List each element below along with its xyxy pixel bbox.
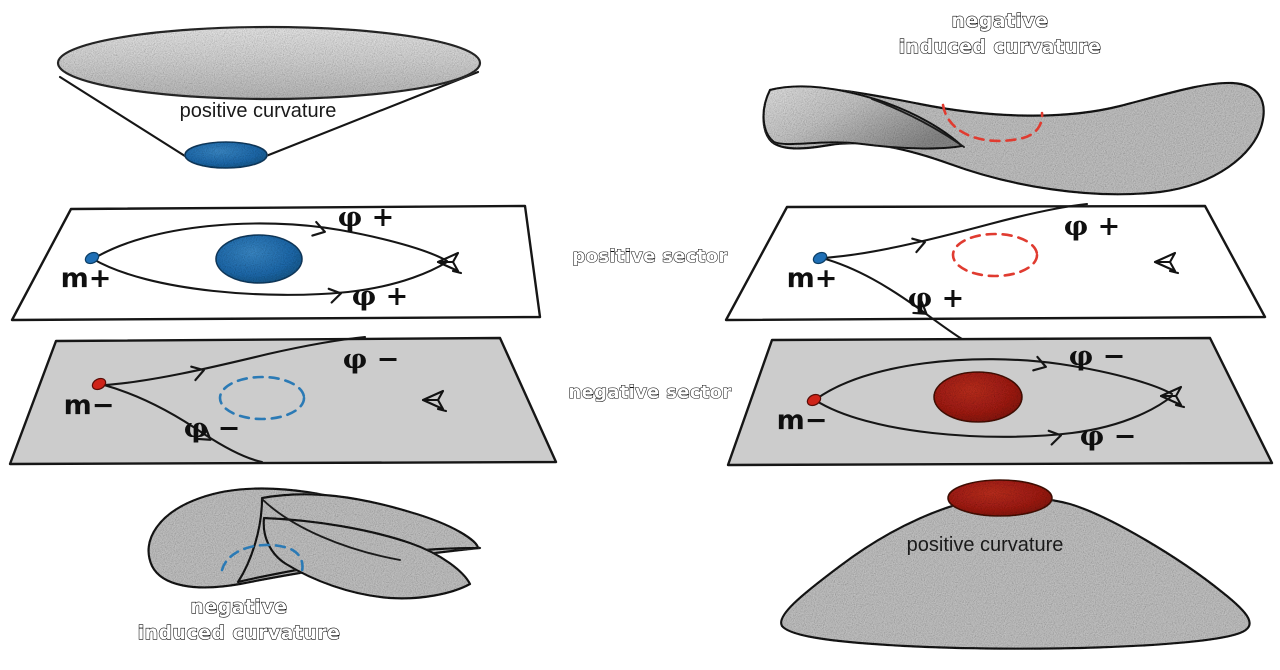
positive-mass-blob-left	[216, 235, 302, 283]
negative-mass-blob-apex	[948, 480, 1052, 516]
label-negative-sector: negative sector	[569, 382, 732, 403]
figure-canvas: positive curvature negative induced curv…	[0, 0, 1280, 670]
panel-top-left-positive-curvature: positive curvature	[58, 27, 480, 168]
path-label-upper-positive-right: φ +	[1064, 211, 1120, 242]
funnel-rim-ellipse	[58, 27, 480, 99]
sector-negative-left: m− φ − φ −	[10, 337, 556, 464]
source-label-positive-right: m+	[787, 263, 838, 294]
negative-mass-blob-right	[934, 372, 1022, 422]
panel-bottom-left-negative-induced-curvature: negative induced curvature	[138, 489, 480, 644]
source-label-negative-left: m−	[64, 390, 115, 421]
cone-hill-body	[781, 497, 1250, 649]
source-label-positive-left: m+	[61, 263, 112, 294]
sector-positive-left: m+ φ + φ +	[12, 202, 540, 320]
path-label-lower-negative-right: φ −	[1080, 421, 1136, 452]
caption-positive-curvature-top-left: positive curvature	[180, 100, 337, 122]
path-label-lower-negative-left: φ −	[184, 413, 240, 444]
sector-positive-right: m+ φ + φ +	[726, 204, 1265, 339]
path-label-lower-positive-left: φ +	[352, 281, 408, 312]
path-label-upper-negative-left: φ −	[343, 344, 399, 375]
caption-positive-curvature-bottom-right: positive curvature	[907, 534, 1064, 556]
panel-top-right-negative-induced-curvature: negative induced curvature	[763, 10, 1263, 194]
path-label-lower-positive-right: φ +	[908, 283, 964, 314]
caption-bottom-left-line1: negative	[191, 596, 288, 618]
label-positive-sector: positive sector	[572, 246, 727, 267]
path-label-upper-negative-right: φ −	[1069, 341, 1125, 372]
sector-negative-right: m− φ − φ −	[728, 338, 1272, 465]
positive-mass-blob	[185, 142, 267, 168]
source-label-negative-right: m−	[777, 405, 828, 436]
panel-bottom-right-positive-curvature: positive curvature	[781, 480, 1250, 649]
caption-top-right-line2: induced curvature	[899, 36, 1102, 58]
path-label-upper-positive-left: φ +	[338, 202, 394, 233]
caption-top-right-line1: negative	[952, 10, 1049, 32]
caption-bottom-left-line2: induced curvature	[138, 622, 341, 644]
